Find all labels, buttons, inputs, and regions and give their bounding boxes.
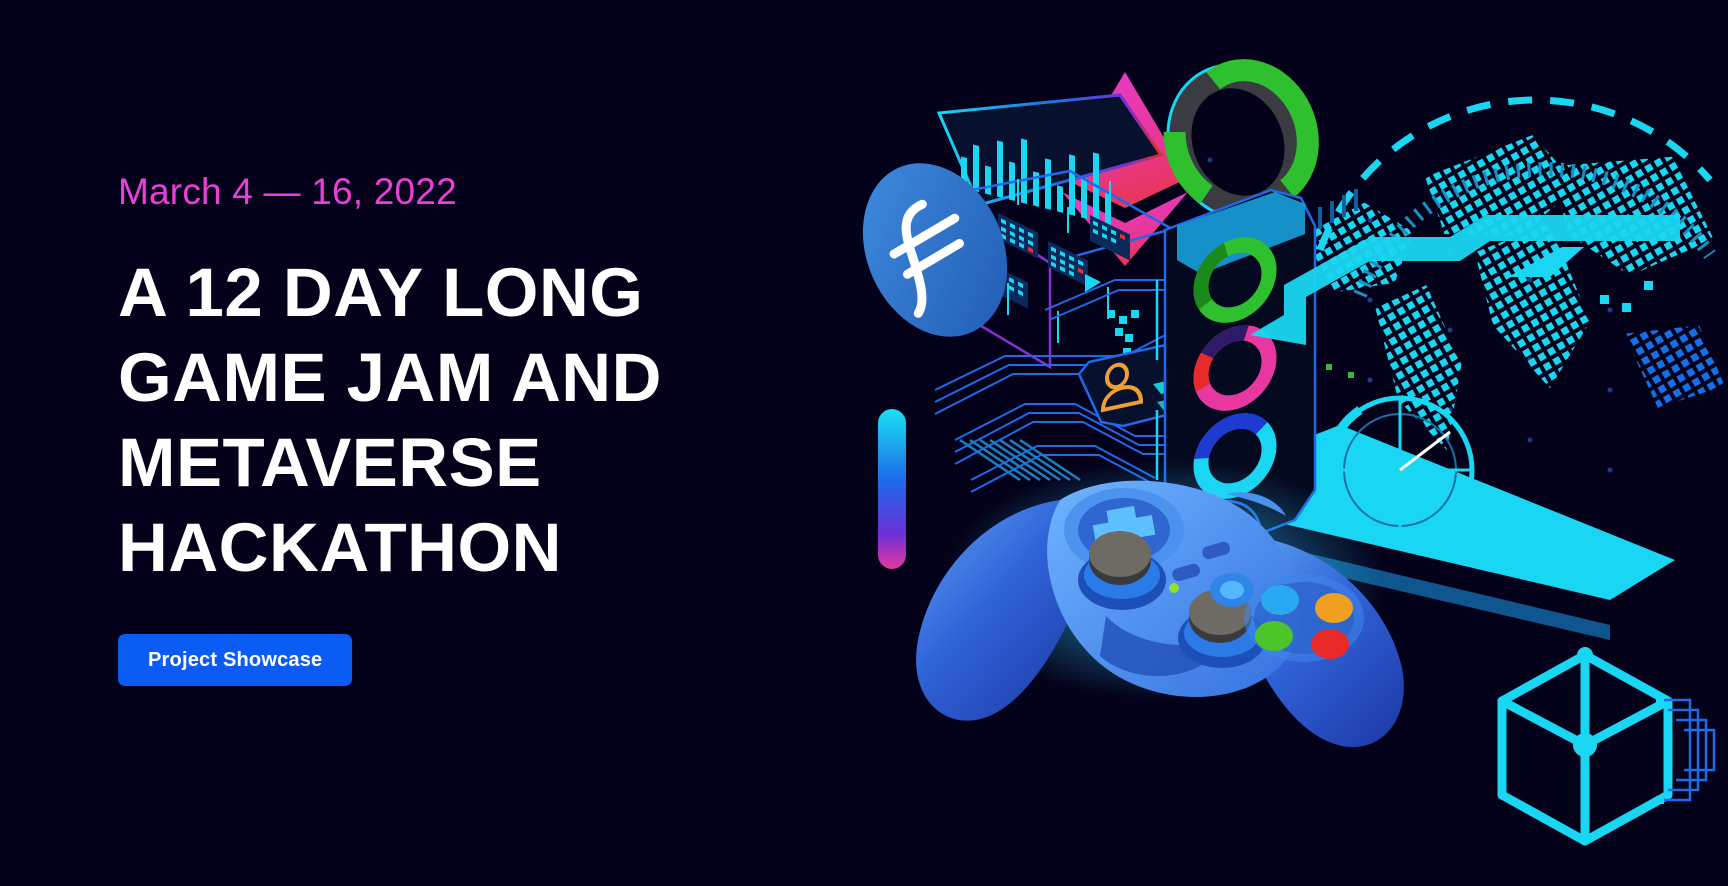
line-art-decor: [960, 440, 1140, 560]
headline-line-2: GAME JAM AND: [118, 335, 838, 420]
hero-copy: March 4 — 16, 2022 A 12 DAY LONG GAME JA…: [118, 170, 838, 686]
headline-line-1: A 12 DAY LONG: [118, 250, 838, 335]
hero-banner: March 4 — 16, 2022 A 12 DAY LONG GAME JA…: [0, 0, 1728, 886]
hud-bar: [1250, 185, 1690, 445]
hero-illustration: [880, 0, 1728, 886]
event-date: March 4 — 16, 2022: [118, 170, 838, 214]
button-blue: [1261, 585, 1299, 615]
circuit-cluster: [1650, 690, 1728, 830]
button-red: [1311, 629, 1349, 659]
headline-line-4: HACKATHON: [118, 505, 838, 590]
cta-container: Project Showcase: [118, 634, 838, 686]
headline-line-3: METAVERSE: [118, 420, 838, 505]
button-orange: [1315, 593, 1353, 623]
page-title: A 12 DAY LONG GAME JAM AND METAVERSE HAC…: [118, 250, 838, 590]
button-green: [1255, 621, 1293, 651]
project-showcase-button[interactable]: Project Showcase: [118, 634, 352, 686]
